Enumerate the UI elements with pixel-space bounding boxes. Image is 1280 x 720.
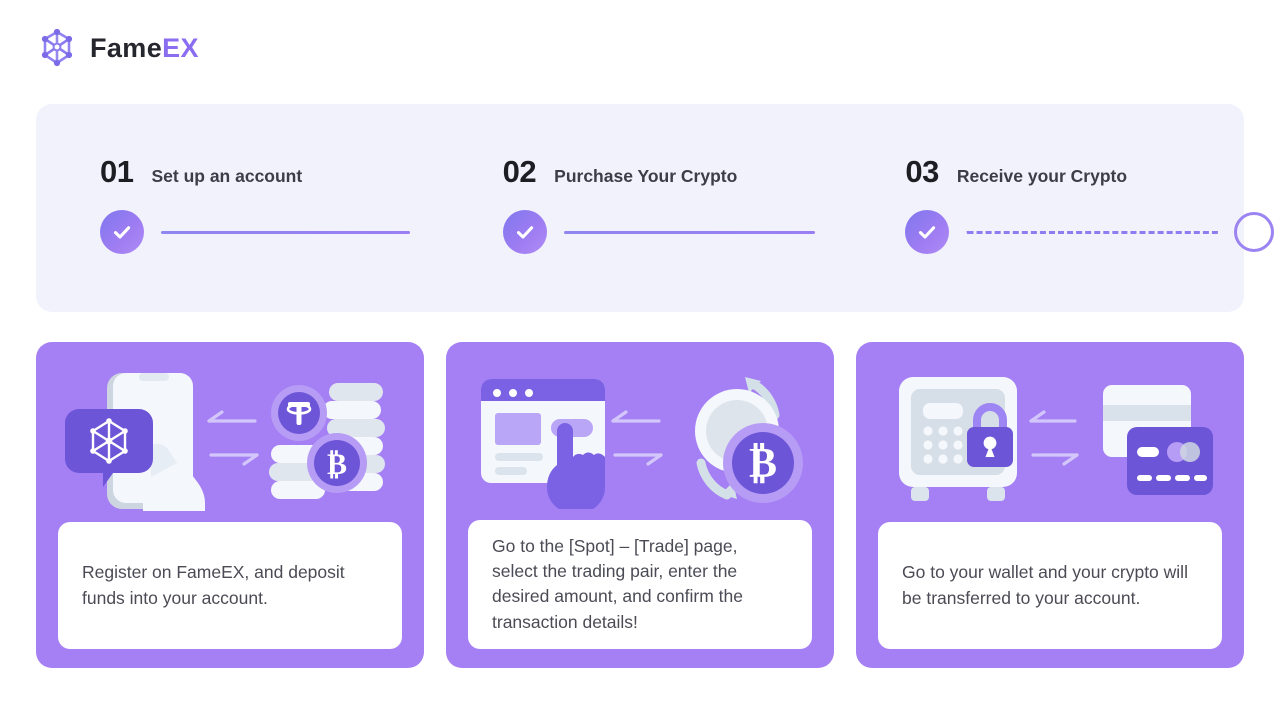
step-item-02[interactable]: 02 Purchase Your Crypto [439, 104, 842, 312]
step-progress-track [905, 210, 1274, 254]
safe-vault-to-credit-cards-illustration [856, 366, 1244, 516]
step-number: 03 [905, 156, 938, 187]
steps-row: 01 Set up an account 02 Purchase Your Cr… [36, 104, 1244, 312]
steps-panel: 01 Set up an account 02 Purchase Your Cr… [36, 104, 1244, 312]
tether-coin-icon [271, 385, 327, 441]
card-item-wallet[interactable]: Go to your wallet and your crypto will b… [856, 342, 1244, 668]
step-heading: 01 Set up an account [100, 156, 302, 187]
check-icon [100, 210, 144, 254]
step-number: 02 [503, 156, 536, 187]
step-progress-track [503, 210, 815, 254]
step-item-01[interactable]: 01 Set up an account [36, 104, 439, 312]
step-title: Purchase Your Crypto [554, 168, 737, 186]
card-note: Register on FameEX, and deposit funds in… [58, 522, 402, 649]
exchange-arrows-icon [1031, 412, 1077, 464]
step-connector-solid [161, 231, 410, 234]
step-connector-dashed [966, 231, 1219, 234]
brand-name-accent: EX [162, 33, 199, 63]
bitcoin-coin-icon: ₿ [723, 423, 803, 503]
fameex-hexagon-network-icon [36, 27, 78, 69]
card-note-text: Register on FameEX, and deposit funds in… [82, 560, 378, 611]
card-item-register[interactable]: ₿ Register on FameEX, and deposit funds … [36, 342, 424, 668]
exchange-arrows-icon [209, 412, 257, 464]
card-note-text: Go to the [Spot] – [Trade] page, select … [492, 534, 788, 636]
credit-card-icon [1127, 427, 1213, 495]
page-root: FameEX 01 Set up an account [0, 0, 1280, 720]
exchange-arrows-icon [613, 412, 661, 464]
card-note: Go to your wallet and your crypto will b… [878, 522, 1222, 649]
check-icon [503, 210, 547, 254]
brand-name-primary: Fame [90, 33, 162, 63]
svg-text:₿: ₿ [327, 448, 347, 481]
brand-name: FameEX [90, 35, 199, 62]
svg-text:₿: ₿ [749, 441, 777, 487]
bitcoin-coin-icon: ₿ [307, 433, 367, 493]
keypad-icon [923, 426, 962, 463]
step-number: 01 [100, 156, 133, 187]
phone-in-hand-to-coin-stacks-illustration: ₿ [36, 366, 424, 516]
step-heading: 02 Purchase Your Crypto [503, 156, 738, 187]
check-icon [905, 210, 949, 254]
empty-circle-icon [1234, 212, 1274, 252]
brand-logo[interactable]: FameEX [36, 26, 199, 70]
step-title: Receive your Crypto [957, 168, 1127, 186]
browser-click-to-swap-bitcoin-illustration: ₿ [446, 366, 834, 516]
card-item-trade[interactable]: ₿ Go to the [Spot] – [Trade] page, selec… [446, 342, 834, 668]
step-connector-solid [564, 231, 815, 234]
step-heading: 03 Receive your Crypto [905, 156, 1127, 187]
step-title: Set up an account [151, 168, 302, 186]
step-item-03[interactable]: 03 Receive your Crypto [841, 104, 1244, 312]
step-progress-track [100, 210, 410, 254]
card-note: Go to the [Spot] – [Trade] page, select … [468, 520, 812, 650]
card-note-text: Go to your wallet and your crypto will b… [902, 560, 1198, 611]
card-list: ₿ Register on FameEX, and deposit funds … [36, 342, 1244, 668]
